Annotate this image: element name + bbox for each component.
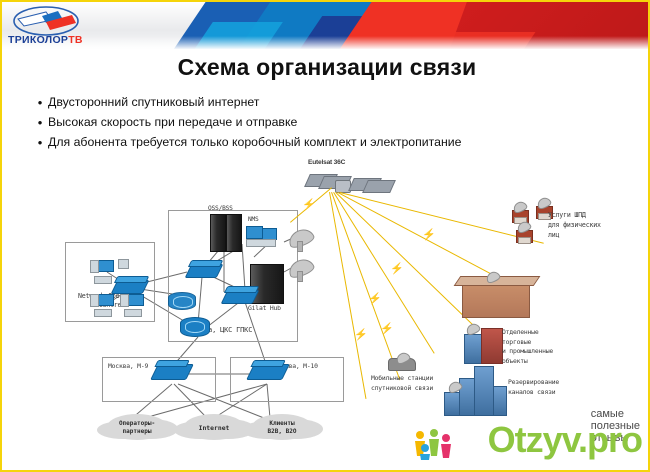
list-item: • Высокая скорость при передаче и отправ… bbox=[32, 114, 632, 131]
bullet-marker: • bbox=[32, 114, 48, 131]
label-backup: Резервирование каналов связи bbox=[508, 378, 608, 397]
people-icon bbox=[412, 428, 456, 460]
ossbss-server-icon bbox=[226, 214, 242, 252]
workstation-icon bbox=[128, 294, 144, 306]
page-title: Схема организации связи bbox=[2, 54, 650, 81]
pc-tower-icon bbox=[90, 260, 99, 273]
dubna-router-icon bbox=[168, 292, 196, 310]
dubna-router-icon bbox=[180, 317, 210, 337]
label-nms: NMS bbox=[248, 215, 259, 224]
bolt-icon: ⚡ bbox=[368, 294, 382, 305]
label-satellite: Eutelsat 36C bbox=[308, 158, 345, 167]
tricolor-logo: ТРИКОЛОРТВ bbox=[6, 6, 102, 54]
bullet-text: Высокая скорость при передаче и отправке bbox=[48, 114, 297, 131]
label-mobile-stations: Мобильные станции спутниковой связи bbox=[354, 374, 450, 393]
label-households: Услуги ШПД для физических лиц bbox=[548, 210, 638, 240]
watermark-logo-main: Otzyv bbox=[488, 419, 578, 460]
workstation-icon bbox=[98, 260, 114, 272]
watermark-logo-tld: .pro bbox=[578, 419, 642, 460]
label-oss-bss: OSS/BSS bbox=[208, 204, 233, 213]
label-remote-sites: Отделенные торговые и промышленные объек… bbox=[502, 328, 612, 366]
printer-icon bbox=[118, 259, 129, 269]
label-moscow-m9: Москва, М-9 bbox=[108, 362, 148, 371]
workstation-icon bbox=[98, 294, 114, 306]
pc-tower-icon bbox=[90, 294, 99, 307]
bolt-icon: ⚡ bbox=[380, 324, 394, 335]
keyboard-icon bbox=[94, 276, 112, 284]
dubna-switch-icon bbox=[221, 290, 260, 304]
ossbss-server-icon bbox=[210, 214, 226, 252]
bullet-text: Для абонента требуется только коробочный… bbox=[48, 134, 462, 151]
label-gilat-hub: Gilat Hub bbox=[248, 304, 281, 313]
label-partners: Операторы- партнеры bbox=[97, 420, 177, 436]
nms-monitor-icon bbox=[246, 226, 263, 239]
keyboard-icon bbox=[124, 309, 142, 317]
watermark-logo: Otzyv.pro bbox=[488, 422, 642, 458]
list-item: • Двусторонний спутниковый интернет bbox=[32, 94, 632, 111]
bullet-marker: • bbox=[32, 94, 48, 111]
bolt-icon: ⚡ bbox=[422, 230, 436, 241]
brand-text: ТРИКОЛОРТВ bbox=[8, 34, 83, 46]
network-diagram: Network Operation Centre Дубна, ЦКС ГПКС… bbox=[2, 152, 650, 452]
noc-switch-icon bbox=[111, 280, 150, 294]
slide-root: ТРИКОЛОРТВ Схема организации связи • Дву… bbox=[0, 0, 650, 472]
list-item: • Для абонента требуется только коробочн… bbox=[32, 134, 632, 151]
bolt-icon: ⚡ bbox=[354, 330, 368, 341]
satellite-dish-icon bbox=[12, 6, 80, 36]
nms-keyboard-icon bbox=[246, 239, 276, 247]
pc-tower-icon bbox=[120, 294, 129, 307]
dubna-switch-icon bbox=[185, 264, 224, 278]
bolt-icon: ⚡ bbox=[390, 264, 404, 275]
bullet-marker: • bbox=[32, 134, 48, 151]
label-clients: Клиенты B2B, B2O bbox=[242, 420, 322, 436]
bolt-icon: ⚡ bbox=[302, 200, 316, 211]
keyboard-icon bbox=[94, 309, 112, 317]
bullet-text: Двусторонний спутниковый интернет bbox=[48, 94, 259, 111]
bullet-list: • Двусторонний спутниковый интернет • Вы… bbox=[32, 94, 632, 154]
